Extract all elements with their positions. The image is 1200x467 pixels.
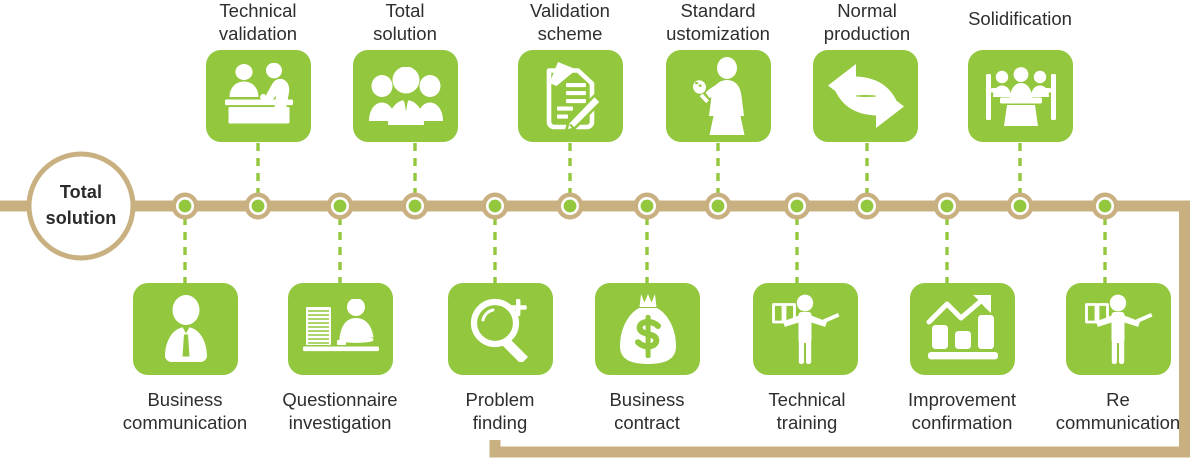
meeting-table-two-people-icon <box>221 63 297 129</box>
bottom-tile-business-contract[interactable] <box>595 283 700 375</box>
label-line-1: Business <box>147 389 222 410</box>
label-line-1: Re <box>1106 389 1130 410</box>
money-bag-dollar-icon <box>617 293 679 365</box>
label-line-1: Technical <box>219 0 296 21</box>
bottom-tile-re-communication[interactable] <box>1066 283 1171 375</box>
top-dash-connectors <box>258 143 1020 196</box>
milestone-node[interactable] <box>245 193 272 220</box>
label-line-2: solution <box>310 22 500 45</box>
label-line-1: Total <box>385 0 424 21</box>
bottom-dash-connectors <box>185 217 1105 283</box>
bottom-tile-questionnaire-investigation[interactable] <box>288 283 393 375</box>
milestone-node[interactable] <box>1092 193 1119 220</box>
milestone-node[interactable] <box>482 193 509 220</box>
bottom-tile-improvement-confirmation[interactable] <box>910 283 1015 375</box>
bottom-tile-problem-finding[interactable] <box>448 283 553 375</box>
label-line-1: Technical <box>768 389 845 410</box>
bar-chart-growth-arrow-icon <box>926 295 1000 363</box>
milestone-node[interactable] <box>784 193 811 220</box>
label-line-1: Questionnaire <box>282 389 397 410</box>
start-node-total-solution[interactable]: Total solution <box>22 152 140 260</box>
milestone-node[interactable] <box>934 193 961 220</box>
label-line-2: communication <box>1023 411 1200 434</box>
conference-table-icon <box>984 64 1058 128</box>
process-timeline-diagram: Total solution <box>0 0 1200 467</box>
start-node-label-line2: solution <box>46 208 117 228</box>
label-line-1: Solidification <box>968 8 1072 29</box>
milestone-node[interactable] <box>402 193 429 220</box>
milestone-node[interactable] <box>557 193 584 220</box>
top-label-total-solution: Total solution <box>310 0 500 46</box>
bottom-tile-business-communication[interactable] <box>133 283 238 375</box>
person-with-microphone-icon <box>688 57 750 135</box>
label-line-1: Validation <box>530 0 610 21</box>
top-tile-standard-ustomization[interactable] <box>666 50 771 142</box>
two-exchange-arrows-icon <box>826 62 906 130</box>
top-tile-validation-scheme[interactable] <box>518 50 623 142</box>
milestone-node[interactable] <box>854 193 881 220</box>
document-with-pencil-icon <box>538 60 604 132</box>
label-line-1: Problem <box>466 389 535 410</box>
label-line-1: Improvement <box>908 389 1016 410</box>
top-tile-technical-validation[interactable] <box>206 50 311 142</box>
label-line-1: Business <box>609 389 684 410</box>
top-tile-total-solution[interactable] <box>353 50 458 142</box>
person-at-desk-with-forms-icon <box>301 299 381 359</box>
top-label-solidification: Solidification <box>925 7 1115 30</box>
bottom-label-re-communication: Re communication <box>1023 388 1200 435</box>
bottom-tile-technical-training[interactable] <box>753 283 858 375</box>
milestone-node[interactable] <box>327 193 354 220</box>
top-tile-normal-production[interactable] <box>813 50 918 142</box>
top-tile-solidification[interactable] <box>968 50 1073 142</box>
milestone-node[interactable] <box>172 193 199 220</box>
milestone-node[interactable] <box>1007 193 1034 220</box>
milestone-node[interactable] <box>705 193 732 220</box>
group-of-people-icon <box>369 67 443 125</box>
start-node-label: Total solution <box>46 180 117 231</box>
label-line-1: Standard <box>680 0 755 21</box>
label-line-1: Normal <box>837 0 897 21</box>
businessperson-with-tie-icon <box>158 295 214 363</box>
magnifier-plus-icon <box>468 296 534 362</box>
trainer-with-book-and-pointer-icon <box>1085 294 1153 364</box>
trainer-with-book-and-pointer-icon <box>772 294 840 364</box>
start-node-label-line1: Total <box>60 182 102 202</box>
milestone-node[interactable] <box>634 193 661 220</box>
